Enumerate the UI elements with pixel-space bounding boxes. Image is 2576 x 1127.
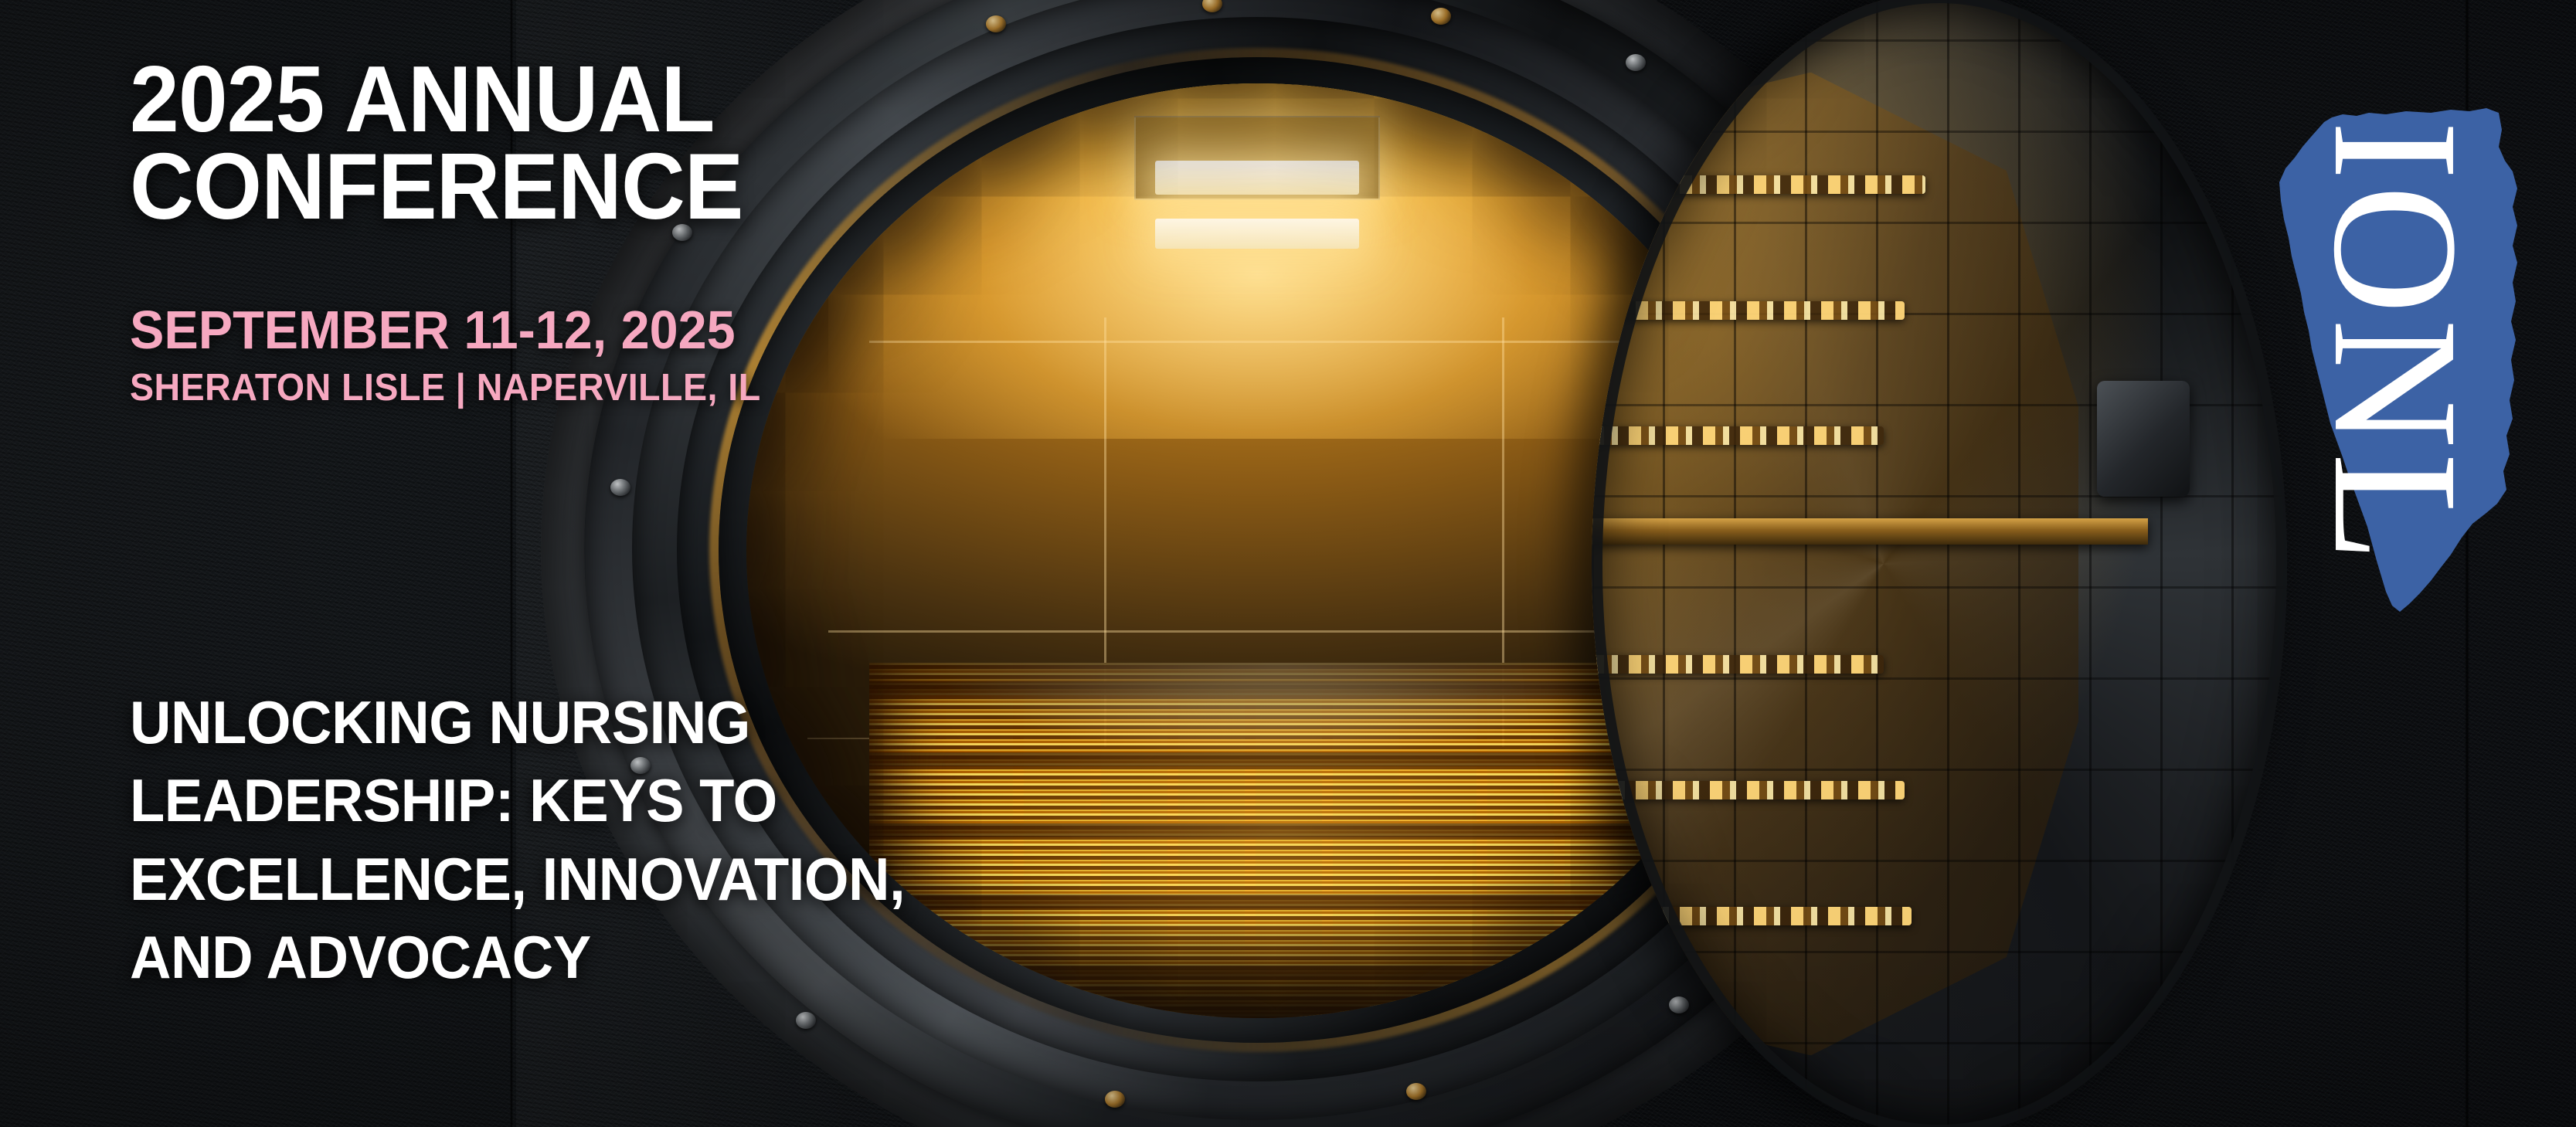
ionl-logo: IONL xyxy=(2241,23,2550,664)
conference-banner: 2025 ANNUAL CONFERENCE SEPTEMBER 11-12, … xyxy=(0,0,2576,1127)
illinois-outline-icon xyxy=(2241,23,2550,664)
scene-vignette xyxy=(0,0,2576,1127)
vault-illustration xyxy=(0,0,2576,1127)
